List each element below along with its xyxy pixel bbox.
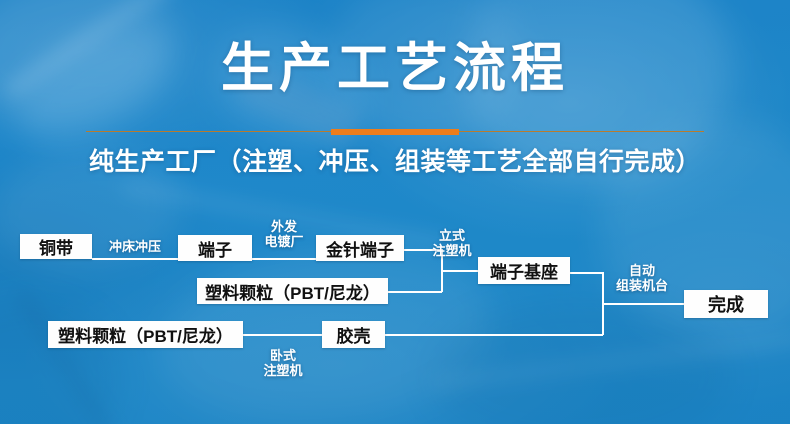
connector-terminal-base-to-bracket bbox=[570, 272, 603, 274]
node-label: 完成 bbox=[708, 291, 744, 317]
node-plastic-shell: 胶壳 bbox=[322, 321, 385, 348]
connector-copper-to-terminal bbox=[92, 258, 178, 260]
edge-label-text-line1: 立式 bbox=[422, 228, 482, 243]
edge-label-vertical-molding: 立式 注塑机 bbox=[422, 228, 482, 258]
edge-label-text: 冲床冲压 bbox=[109, 239, 161, 254]
node-label: 铜带 bbox=[39, 234, 73, 259]
connector-pellet-to-shell bbox=[243, 334, 322, 336]
edge-label-outsourced-plating: 外发 电镀厂 bbox=[255, 219, 313, 249]
connector-terminal-to-goldpin bbox=[252, 258, 316, 260]
edge-label-text-line1: 自动 bbox=[601, 263, 683, 278]
node-label: 塑料颗粒（PBT/尼龙） bbox=[58, 322, 233, 347]
node-terminal-base: 端子基座 bbox=[478, 257, 570, 284]
node-label: 金针端子 bbox=[326, 236, 394, 261]
node-plastic-pellet-bottom: 塑料颗粒（PBT/尼龙） bbox=[48, 321, 243, 348]
edge-label-horizontal-molding: 卧式 注塑机 bbox=[253, 348, 313, 378]
node-label: 端子 bbox=[198, 236, 232, 261]
connector-pellet-to-bracket bbox=[388, 291, 442, 293]
edge-label-text-line2: 电镀厂 bbox=[255, 234, 313, 249]
node-finish: 完成 bbox=[684, 290, 768, 318]
edge-label-text-line1: 外发 bbox=[255, 219, 313, 234]
node-plastic-pellet-top: 塑料颗粒（PBT/尼龙） bbox=[197, 278, 388, 304]
process-flow-diagram: 铜带 端子 金针端子 冲床冲压 外发 电镀厂 塑料颗粒（PBT/尼龙） 端子基座… bbox=[0, 0, 790, 424]
edge-label-punch-press: 冲床冲压 bbox=[100, 239, 170, 254]
connector-bracket-to-finish bbox=[602, 303, 684, 305]
node-gold-pin-terminal: 金针端子 bbox=[316, 235, 404, 261]
edge-label-text-line1: 卧式 bbox=[253, 348, 313, 363]
edge-label-auto-assembly-machine: 自动 组装机台 bbox=[601, 263, 683, 293]
node-copper-strip: 铜带 bbox=[20, 234, 92, 259]
node-label: 塑料颗粒（PBT/尼龙） bbox=[205, 279, 380, 304]
edge-label-text-line2: 注塑机 bbox=[422, 243, 482, 258]
node-label: 胶壳 bbox=[337, 322, 371, 347]
edge-label-text-line2: 注塑机 bbox=[253, 363, 313, 378]
node-terminal: 端子 bbox=[178, 235, 252, 261]
connector-bracket-to-terminal-base bbox=[441, 270, 482, 272]
edge-label-text-line2: 组装机台 bbox=[601, 278, 683, 293]
connector-shell-to-bracket bbox=[385, 334, 603, 336]
node-label: 端子基座 bbox=[490, 258, 558, 283]
